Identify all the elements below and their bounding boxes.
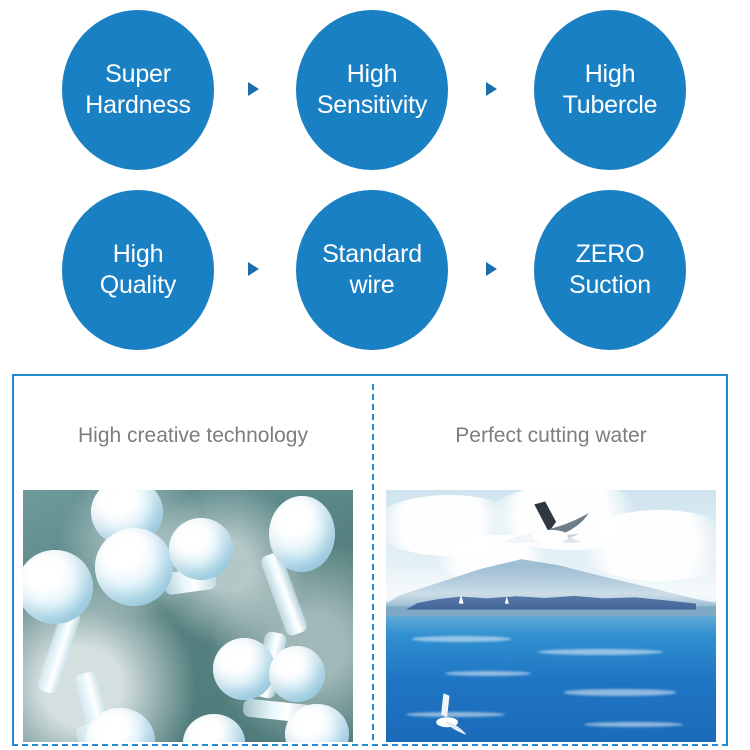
feature-circle-label-line-1: Standard <box>322 239 422 270</box>
feature-circle-label-line-2: Sensitivity <box>317 90 427 121</box>
feature-circle-label-line-2: Tubercle <box>563 90 658 121</box>
showcase-cell-left: High creative technology <box>14 376 372 744</box>
showcase-caption-left: High creative technology <box>14 424 372 448</box>
feature-row-2: High Quality Standard wire ZERO Suction <box>0 180 750 360</box>
molecule-atom <box>269 496 335 572</box>
feature-circle-high-sensitivity[interactable]: High Sensitivity <box>296 10 448 170</box>
feature-circle-high-tubercle[interactable]: High Tubercle <box>534 10 686 170</box>
feature-circle-label-line-2: wire <box>349 270 394 301</box>
molecule-atom <box>269 646 325 702</box>
feature-circle-label-line-2: Hardness <box>85 90 190 121</box>
water-glint <box>564 689 676 696</box>
flow-arrow-icon <box>248 262 259 276</box>
molecule-atom <box>23 550 93 624</box>
flow-arrow-icon <box>486 262 497 276</box>
flow-arrow-icon <box>486 82 497 96</box>
feature-circle-high-quality[interactable]: High Quality <box>62 190 214 350</box>
flow-arrow-icon <box>248 82 259 96</box>
feature-flow-section: Super Hardness High Sensitivity High Tub… <box>0 0 750 360</box>
feature-circle-label-line-2: Suction <box>569 270 651 301</box>
molecule-atom <box>183 714 245 742</box>
feature-circle-label-line-1: High <box>585 59 636 90</box>
water-glint <box>445 671 531 676</box>
molecule-atom <box>213 638 275 700</box>
feature-circle-label-line-1: ZERO <box>576 239 645 270</box>
feature-row-1: Super Hardness High Sensitivity High Tub… <box>0 0 750 180</box>
feature-circle-standard-wire[interactable]: Standard wire <box>296 190 448 350</box>
water-glint <box>538 649 663 655</box>
seagull-low-icon <box>412 692 485 742</box>
feature-circle-label-line-1: High <box>113 239 164 270</box>
showcase-caption-right: Perfect cutting water <box>372 424 730 448</box>
showcase-image-seascape <box>386 490 716 742</box>
seagull-flying-icon <box>478 500 623 566</box>
feature-circle-super-hardness[interactable]: Super Hardness <box>62 10 214 170</box>
feature-circle-label-line-1: High <box>347 59 398 90</box>
molecule-atom <box>169 518 233 580</box>
seascape-artwork <box>386 490 716 742</box>
feature-circle-label-line-2: Quality <box>100 270 176 301</box>
showcase-image-molecule <box>23 490 353 742</box>
water-glint <box>584 722 683 727</box>
feature-circle-label-line-1: Super <box>105 59 171 90</box>
molecule-atom <box>95 528 173 606</box>
showcase-cell-right: Perfect cutting water <box>372 376 730 744</box>
showcase-panel: High creative technology <box>12 374 728 746</box>
molecule-artwork <box>23 490 353 742</box>
water-glint <box>412 636 511 642</box>
feature-circle-zero-suction[interactable]: ZERO Suction <box>534 190 686 350</box>
